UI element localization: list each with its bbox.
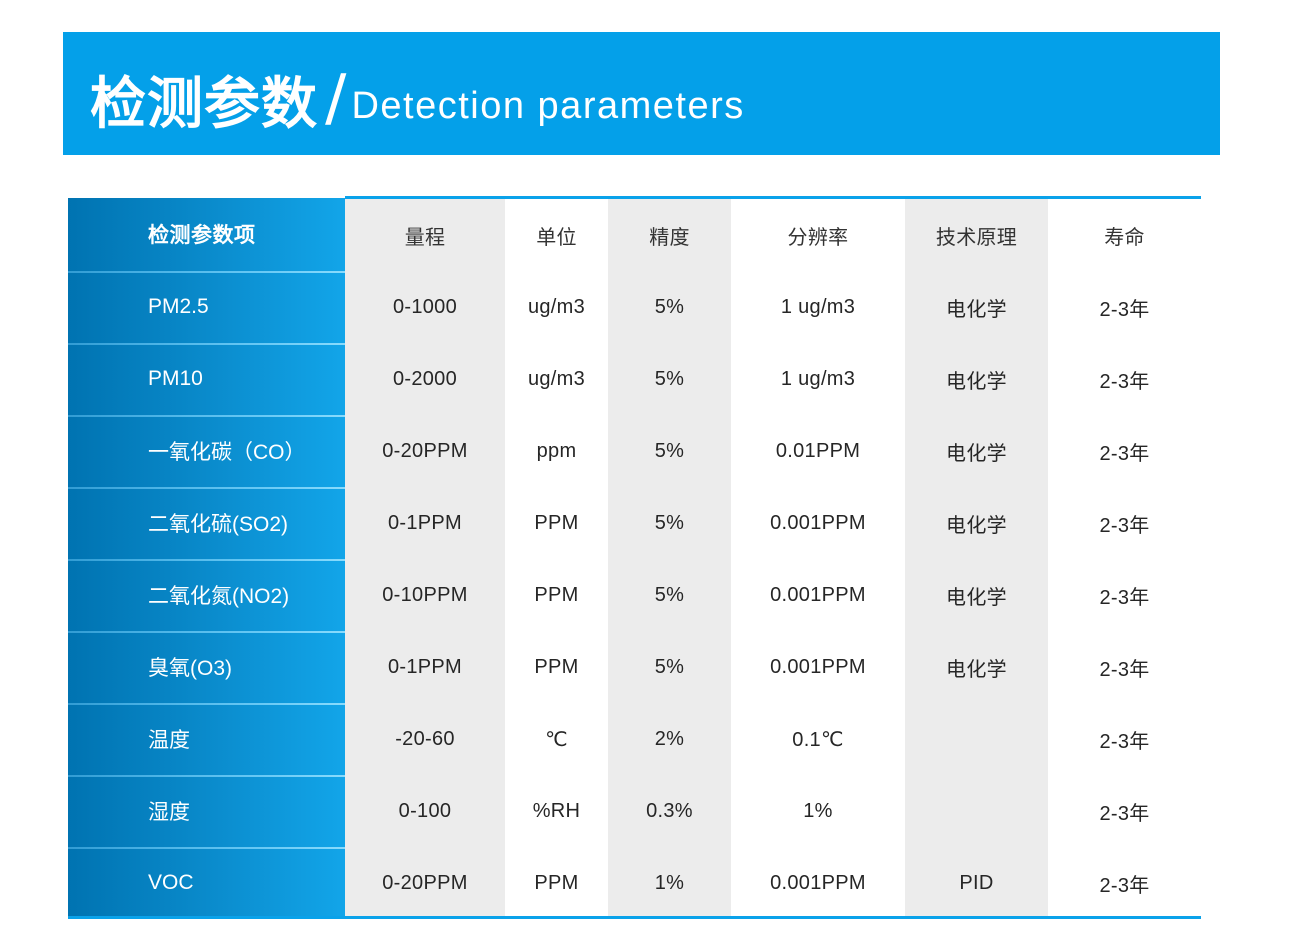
table-cell-resolution: 0.001PPM <box>731 847 905 919</box>
table-cell-principle: 电化学 <box>905 487 1048 559</box>
table-cell-life: 2-3年 <box>1048 847 1201 919</box>
table-cell-principle <box>905 775 1048 847</box>
table-cell-range: 0-1PPM <box>345 631 505 703</box>
table-cell-accuracy: 5% <box>608 343 731 415</box>
table-row: PM100-2000ug/m35%1 ug/m3电化学2-3年 <box>68 343 1201 415</box>
table-header-cell-unit: 单位 <box>505 198 608 272</box>
table-cell-parameter-name: 臭氧(O3) <box>68 631 345 703</box>
table-header-cell-principle: 技术原理 <box>905 198 1048 272</box>
table-cell-range: 0-100 <box>345 775 505 847</box>
table-cell-range: 0-2000 <box>345 343 505 415</box>
table-cell-principle: 电化学 <box>905 631 1048 703</box>
page-title-cn: 检测参数 <box>90 76 318 132</box>
table-cell-principle: 电化学 <box>905 271 1048 343</box>
table-cell-unit: PPM <box>505 487 608 559</box>
table-cell-resolution: 0.001PPM <box>731 559 905 631</box>
table-cell-resolution: 1% <box>731 775 905 847</box>
table-cell-unit: ppm <box>505 415 608 487</box>
table-cell-accuracy: 1% <box>608 847 731 919</box>
page-title-en: Detection parameters <box>351 87 744 125</box>
table-cell-accuracy: 0.3% <box>608 775 731 847</box>
table-cell-parameter-name: 二氧化硫(SO2) <box>68 487 345 559</box>
table-cell-resolution: 0.01PPM <box>731 415 905 487</box>
table-cell-principle: 电化学 <box>905 343 1048 415</box>
table-cell-parameter-name: 温度 <box>68 703 345 775</box>
table-cell-life: 2-3年 <box>1048 415 1201 487</box>
row-separator <box>68 631 345 633</box>
row-separator <box>68 415 345 417</box>
table-cell-unit: PPM <box>505 631 608 703</box>
table-row: 温度-20-60℃2%0.1℃2-3年 <box>68 703 1201 775</box>
table-cell-principle: 电化学 <box>905 415 1048 487</box>
table-row: 湿度0-100%RH0.3%1%2-3年 <box>68 775 1201 847</box>
table-cell-unit: PPM <box>505 559 608 631</box>
table-cell-life: 2-3年 <box>1048 559 1201 631</box>
table-cell-principle <box>905 703 1048 775</box>
table-cell-life: 2-3年 <box>1048 343 1201 415</box>
row-separator <box>68 775 345 777</box>
page-header-banner: 检测参数 / Detection parameters <box>63 32 1220 155</box>
table-cell-accuracy: 5% <box>608 271 731 343</box>
row-separator <box>68 343 345 345</box>
table-header-cell-range: 量程 <box>345 198 505 272</box>
table-cell-resolution: 0.1℃ <box>731 703 905 775</box>
table-body: 检测参数项量程单位精度分辨率技术原理寿命PM2.50-1000ug/m35%1 … <box>68 198 1201 920</box>
table-cell-parameter-name: 湿度 <box>68 775 345 847</box>
table-cell-resolution: 0.001PPM <box>731 631 905 703</box>
table-header-cell-life: 寿命 <box>1048 198 1201 272</box>
table-cell-resolution: 0.001PPM <box>731 487 905 559</box>
table-cell-life: 2-3年 <box>1048 703 1201 775</box>
table-row: 二氧化硫(SO2)0-1PPMPPM5%0.001PPM电化学2-3年 <box>68 487 1201 559</box>
table-cell-unit: PPM <box>505 847 608 919</box>
table-cell-parameter-name: PM2.5 <box>68 271 345 343</box>
table-cell-range: 0-20PPM <box>345 415 505 487</box>
table-cell-range: 0-1PPM <box>345 487 505 559</box>
table-row: 一氧化碳（CO）0-20PPMppm5%0.01PPM电化学2-3年 <box>68 415 1201 487</box>
table-row: VOC0-20PPMPPM1%0.001PPMPID2-3年 <box>68 847 1201 919</box>
table-cell-range: 0-10PPM <box>345 559 505 631</box>
table-cell-range: 0-20PPM <box>345 847 505 919</box>
row-separator <box>68 559 345 561</box>
table-cell-principle: 电化学 <box>905 559 1048 631</box>
table-cell-accuracy: 5% <box>608 631 731 703</box>
table-cell-unit: ug/m3 <box>505 343 608 415</box>
table-cell-life: 2-3年 <box>1048 271 1201 343</box>
table-cell-resolution: 1 ug/m3 <box>731 271 905 343</box>
detection-parameters-table: 检测参数项量程单位精度分辨率技术原理寿命PM2.50-1000ug/m35%1 … <box>68 196 1201 919</box>
table-row: PM2.50-1000ug/m35%1 ug/m3电化学2-3年 <box>68 271 1201 343</box>
detection-parameters-table-wrapper: 检测参数项量程单位精度分辨率技术原理寿命PM2.50-1000ug/m35%1 … <box>68 196 1201 919</box>
table-header-cell-resolution: 分辨率 <box>731 198 905 272</box>
table-cell-accuracy: 5% <box>608 415 731 487</box>
table-header-cell-parameter: 检测参数项 <box>68 198 345 272</box>
table-cell-life: 2-3年 <box>1048 487 1201 559</box>
table-cell-resolution: 1 ug/m3 <box>731 343 905 415</box>
table-cell-life: 2-3年 <box>1048 775 1201 847</box>
table-cell-unit: ug/m3 <box>505 271 608 343</box>
row-separator <box>68 847 345 849</box>
row-separator <box>68 703 345 705</box>
table-cell-accuracy: 2% <box>608 703 731 775</box>
table-cell-parameter-name: 二氧化氮(NO2) <box>68 559 345 631</box>
title-separator-slash: / <box>325 65 347 135</box>
table-cell-accuracy: 5% <box>608 487 731 559</box>
table-row: 二氧化氮(NO2)0-10PPMPPM5%0.001PPM电化学2-3年 <box>68 559 1201 631</box>
table-cell-parameter-name: VOC <box>68 847 345 919</box>
row-separator <box>68 271 345 273</box>
table-row: 臭氧(O3)0-1PPMPPM5%0.001PPM电化学2-3年 <box>68 631 1201 703</box>
table-cell-unit: %RH <box>505 775 608 847</box>
table-cell-unit: ℃ <box>505 703 608 775</box>
table-header-cell-accuracy: 精度 <box>608 198 731 272</box>
table-bottom-rule <box>68 916 1201 919</box>
table-cell-range: 0-1000 <box>345 271 505 343</box>
banner-title-group: 检测参数 / Detection parameters <box>90 59 745 129</box>
table-cell-principle: PID <box>905 847 1048 919</box>
table-cell-range: -20-60 <box>345 703 505 775</box>
table-cell-parameter-name: PM10 <box>68 343 345 415</box>
table-header-row: 检测参数项量程单位精度分辨率技术原理寿命 <box>68 198 1201 272</box>
table-cell-parameter-name: 一氧化碳（CO） <box>68 415 345 487</box>
row-separator <box>68 487 345 489</box>
table-cell-life: 2-3年 <box>1048 631 1201 703</box>
table-cell-accuracy: 5% <box>608 559 731 631</box>
